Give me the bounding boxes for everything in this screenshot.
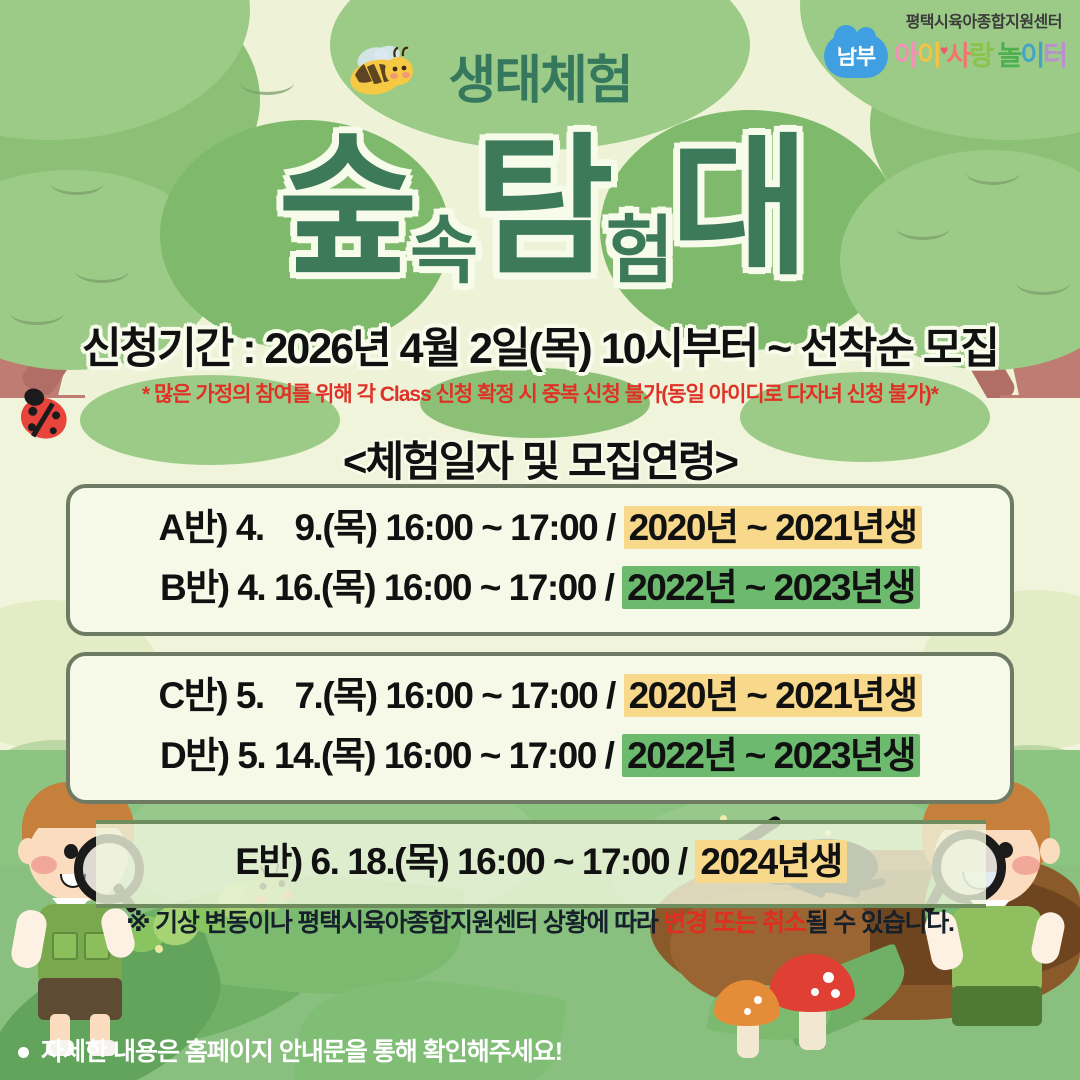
class-b-month: 4. bbox=[237, 567, 265, 608]
class-c-time: 16:00 ~ 17:00 bbox=[385, 675, 597, 716]
class-a-month: 4. bbox=[236, 507, 264, 548]
poster-root: 평택시육아종합지원센터 남부 아이♥사랑 놀이터 생태체험 숲속탐험대 신청기간… bbox=[0, 0, 1080, 1080]
class-a-sep: / bbox=[606, 507, 615, 548]
class-c-day: 7.(목) bbox=[294, 675, 376, 716]
notice-line: ※ 기상 변동이나 평택시육아종합지원센터 상황에 따라 변경 또는 취소될 수… bbox=[0, 903, 1080, 939]
class-row-c: C반) 5. 7.(목) 16:00 ~ 17:00 / 2020년 ~ 202… bbox=[70, 666, 1010, 726]
section-heading: <체험일자 및 모집연령> bbox=[0, 428, 1080, 489]
class-c-month: 5. bbox=[236, 675, 264, 716]
class-c-name: C반) bbox=[158, 675, 227, 716]
class-e-name: E반) bbox=[235, 841, 302, 882]
class-d-month: 5. bbox=[237, 735, 265, 776]
class-d-ages: 2022년 ~ 2023년생 bbox=[622, 734, 920, 777]
class-card-cd: C반) 5. 7.(목) 16:00 ~ 17:00 / 2020년 ~ 202… bbox=[66, 652, 1014, 804]
class-card-ab: A반) 4. 9.(목) 16:00 ~ 17:00 / 2020년 ~ 202… bbox=[66, 484, 1014, 636]
class-a-time: 16:00 ~ 17:00 bbox=[385, 507, 597, 548]
class-d-day: 14.(목) bbox=[274, 735, 375, 776]
class-e-day: 18.(목) bbox=[347, 841, 448, 882]
class-b-day: 16.(목) bbox=[274, 567, 375, 608]
bullet-icon bbox=[18, 1047, 29, 1058]
title-char-heom: 험 bbox=[606, 209, 670, 292]
class-b-ages: 2022년 ~ 2023년생 bbox=[622, 566, 920, 609]
class-d-name: D반) bbox=[160, 735, 229, 776]
notice-red: 변경 또는 취소 bbox=[663, 909, 805, 937]
application-note: * 많은 가정의 참여를 위해 각 Class 신청 확정 시 중복 신청 불가… bbox=[0, 378, 1080, 408]
class-c-sep: / bbox=[606, 675, 615, 716]
title-char-sok: 속 bbox=[410, 209, 474, 292]
org-name: 평택시육아종합지원센터 bbox=[766, 8, 1062, 32]
class-b-name: B반) bbox=[160, 567, 229, 608]
class-d-sep: / bbox=[605, 735, 614, 776]
mushroom-orange-icon bbox=[714, 980, 780, 1058]
class-e-sep: / bbox=[678, 841, 687, 882]
title-char-tam: 탐 bbox=[474, 123, 606, 293]
class-a-day: 9.(목) bbox=[294, 507, 376, 548]
class-a-ages: 2020년 ~ 2021년생 bbox=[624, 506, 922, 549]
page-title: 숲속탐험대 bbox=[0, 132, 1080, 284]
application-period: 신청기간 : 2026년 4월 2일(목) 10시부터 ~ 선착순 모집 bbox=[0, 314, 1080, 376]
program-label: 생태체험 bbox=[0, 38, 1080, 113]
class-row-d: D반) 5. 14.(목) 16:00 ~ 17:00 / 2022년 ~ 20… bbox=[70, 726, 1010, 786]
class-row-b: B반) 4. 16.(목) 16:00 ~ 17:00 / 2022년 ~ 20… bbox=[70, 558, 1010, 618]
class-a-name: A반) bbox=[158, 507, 227, 548]
class-e-time: 16:00 ~ 17:00 bbox=[457, 841, 669, 882]
class-b-sep: / bbox=[605, 567, 614, 608]
title-char-soop: 숲 bbox=[278, 123, 410, 293]
class-b-time: 16:00 ~ 17:00 bbox=[384, 567, 596, 608]
title-char-dae: 대 bbox=[670, 123, 802, 293]
class-row-a: A반) 4. 9.(목) 16:00 ~ 17:00 / 2020년 ~ 202… bbox=[70, 498, 1010, 558]
class-row-e: E반) 6. 18.(목) 16:00 ~ 17:00 / 2024년생 bbox=[96, 832, 986, 892]
class-c-ages: 2020년 ~ 2021년생 bbox=[624, 674, 922, 717]
class-d-time: 16:00 ~ 17:00 bbox=[384, 735, 596, 776]
mushroom-red-icon bbox=[769, 954, 855, 1050]
class-card-e: E반) 6. 18.(목) 16:00 ~ 17:00 / 2024년생 bbox=[96, 820, 986, 908]
class-e-ages: 2024년생 bbox=[695, 840, 846, 883]
footer-text: 자세한 내용은 홈페이지 안내문을 통해 확인해주세요! bbox=[41, 1038, 562, 1066]
notice-suffix: 될 수 있습니다. bbox=[806, 909, 954, 937]
class-e-month: 6. bbox=[311, 841, 339, 882]
notice-prefix: ※ 기상 변동이나 평택시육아종합지원센터 상황에 따라 bbox=[126, 909, 663, 937]
footer-note: 자세한 내용은 홈페이지 안내문을 통해 확인해주세요! bbox=[18, 1032, 562, 1068]
